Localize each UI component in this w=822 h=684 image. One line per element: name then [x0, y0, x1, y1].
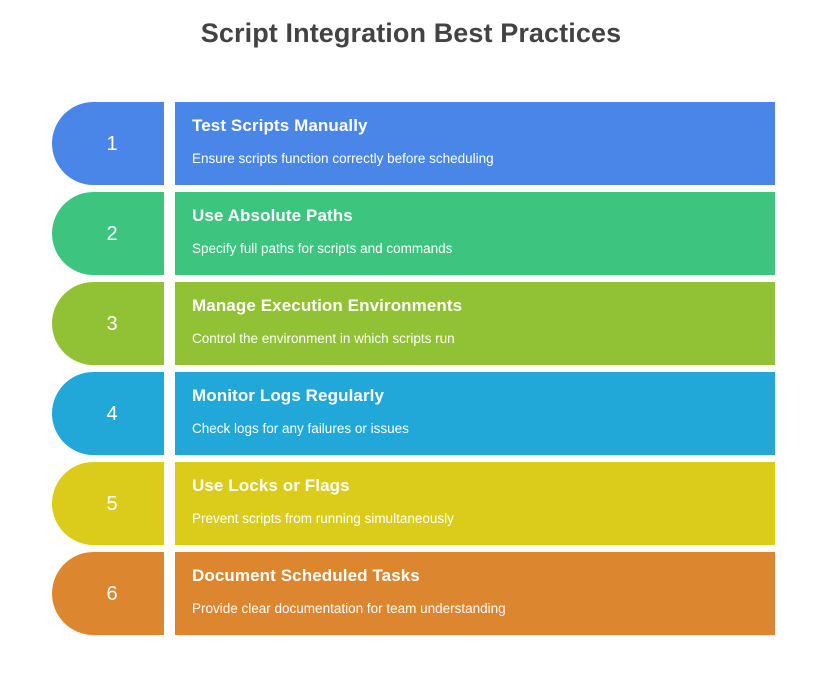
- step-number-label-6: 6: [98, 584, 117, 604]
- step-number-badge-3: 3: [52, 282, 164, 365]
- step-panel-3: Manage Execution Environments Control th…: [175, 282, 775, 365]
- step-number-label-5: 5: [98, 494, 117, 514]
- step-number-badge-4: 4: [52, 372, 164, 455]
- step-panel-5: Use Locks or Flags Prevent scripts from …: [175, 462, 775, 545]
- step-panel-4: Monitor Logs Regularly Check logs for an…: [175, 372, 775, 455]
- step-description-1: Ensure scripts function correctly before…: [192, 151, 775, 167]
- page-title: Script Integration Best Practices: [0, 18, 822, 49]
- step-panel-6: Document Scheduled Tasks Provide clear d…: [175, 552, 775, 635]
- step-title-5: Use Locks or Flags: [192, 476, 775, 496]
- step-description-5: Prevent scripts from running simultaneou…: [192, 511, 775, 527]
- step-number-badge-2: 2: [52, 192, 164, 275]
- step-row-2[interactable]: 2 Use Absolute Paths Specify full paths …: [52, 192, 775, 275]
- infographic-canvas: Script Integration Best Practices 1 Test…: [0, 0, 822, 684]
- step-number-badge-1: 1: [52, 102, 164, 185]
- steps-list: 1 Test Scripts Manually Ensure scripts f…: [52, 102, 775, 642]
- step-title-6: Document Scheduled Tasks: [192, 566, 775, 586]
- step-row-4[interactable]: 4 Monitor Logs Regularly Check logs for …: [52, 372, 775, 455]
- step-description-2: Specify full paths for scripts and comma…: [192, 241, 775, 257]
- step-number-label-1: 1: [98, 134, 117, 154]
- step-description-4: Check logs for any failures or issues: [192, 421, 775, 437]
- step-panel-2: Use Absolute Paths Specify full paths fo…: [175, 192, 775, 275]
- step-panel-1: Test Scripts Manually Ensure scripts fun…: [175, 102, 775, 185]
- step-number-badge-6: 6: [52, 552, 164, 635]
- step-row-5[interactable]: 5 Use Locks or Flags Prevent scripts fro…: [52, 462, 775, 545]
- step-row-3[interactable]: 3 Manage Execution Environments Control …: [52, 282, 775, 365]
- step-row-1[interactable]: 1 Test Scripts Manually Ensure scripts f…: [52, 102, 775, 185]
- step-number-label-2: 2: [98, 224, 117, 244]
- step-title-3: Manage Execution Environments: [192, 296, 775, 316]
- step-description-3: Control the environment in which scripts…: [192, 331, 775, 347]
- step-number-badge-5: 5: [52, 462, 164, 545]
- step-description-6: Provide clear documentation for team und…: [192, 601, 775, 617]
- step-title-1: Test Scripts Manually: [192, 116, 775, 136]
- step-title-4: Monitor Logs Regularly: [192, 386, 775, 406]
- step-title-2: Use Absolute Paths: [192, 206, 775, 226]
- step-number-label-4: 4: [98, 404, 117, 424]
- step-number-label-3: 3: [98, 314, 117, 334]
- step-row-6[interactable]: 6 Document Scheduled Tasks Provide clear…: [52, 552, 775, 635]
